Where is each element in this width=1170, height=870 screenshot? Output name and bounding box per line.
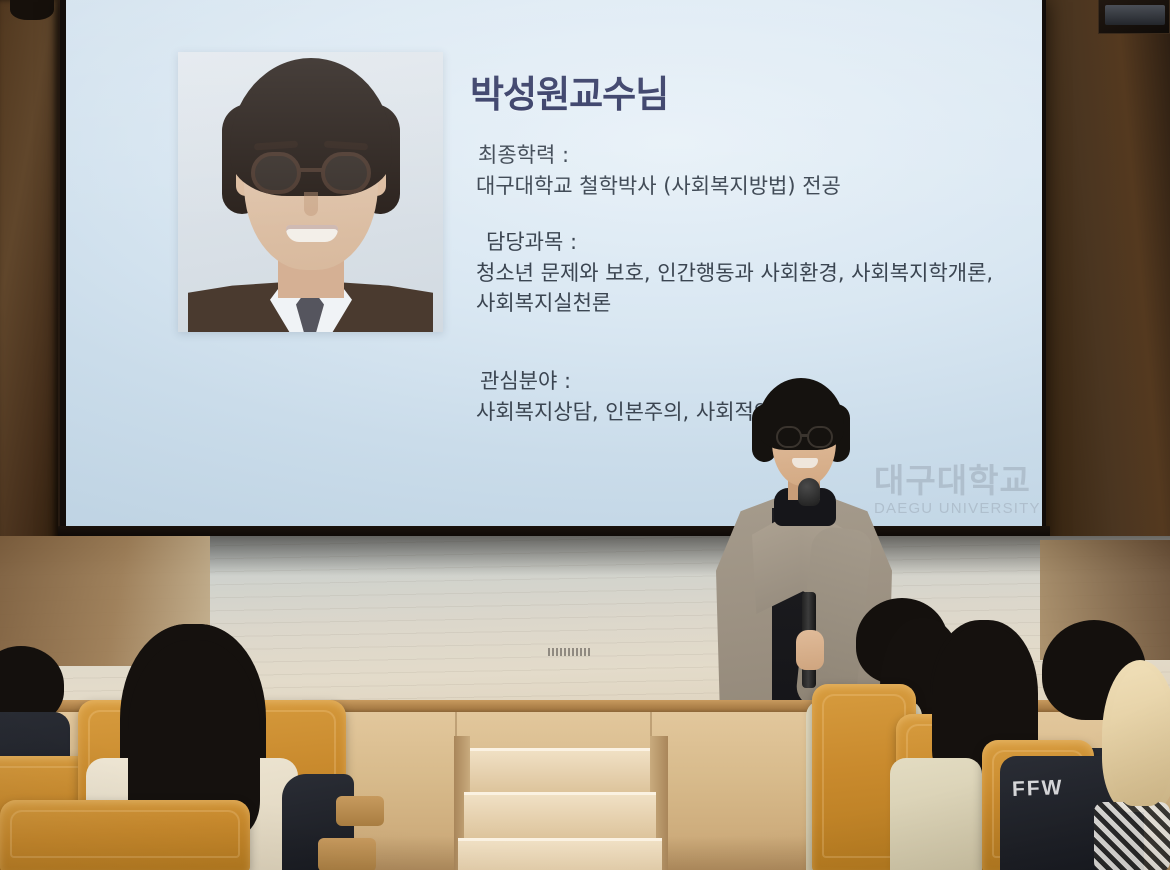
left-wall (0, 0, 68, 560)
portrait-nose (304, 192, 318, 216)
field-courses-value-line-1: 청소년 문제와 보호, 인간행동과 사회환경, 사회복지학개론, (476, 258, 993, 289)
wall-unit-right-icon (1098, 0, 1170, 34)
field-courses-label: 담당과목 : (486, 227, 993, 258)
stair-step-2 (464, 792, 656, 838)
speaker-glasses-left-icon (776, 426, 802, 448)
slide-title: 박성원교수님 (470, 64, 668, 118)
portrait-glasses-right-icon (321, 152, 371, 194)
audience-coat-right-2 (890, 758, 982, 870)
right-wall (1042, 0, 1170, 560)
field-courses: 담당과목 : 청소년 문제와 보호, 인간행동과 사회환경, 사회복지학개론, … (476, 227, 993, 319)
audience-seat-arm-center (336, 796, 384, 826)
field-education: 최종학력 : 대구대학교 철학박사 (사회복지방법) 전공 (476, 140, 841, 201)
speaker-hand (796, 630, 824, 670)
stair-step-1 (470, 748, 650, 792)
audience-scarf-patterned (1094, 802, 1170, 870)
speaker-smile (792, 458, 818, 468)
field-courses-value-line-2: 사회복지실천론 (476, 288, 993, 319)
speaker-glasses-bridge-icon (801, 434, 809, 437)
ceiling-fixture-top-left-icon (10, 0, 54, 20)
microphone-head-icon (798, 478, 820, 506)
field-education-value: 대구대학교 철학박사 (사회복지방법) 전공 (476, 171, 841, 202)
portrait-glasses-bridge-icon (300, 168, 323, 172)
audience-hair-blonde-front (1110, 666, 1170, 806)
audience-seat-front-left (0, 800, 250, 870)
professor-portrait-photo (178, 52, 443, 332)
portrait-smile (286, 225, 338, 242)
portrait-glasses-left-icon (251, 152, 301, 194)
left-wall-panel (0, 0, 58, 545)
stage-stairs (470, 716, 650, 870)
audience-seat-arm-front (318, 838, 376, 870)
stair-step-3 (458, 838, 662, 870)
speaker-glasses-right-icon (807, 426, 833, 448)
stage-floor-marking (548, 648, 592, 656)
lecture-hall-scene: 박성원교수님 최종학력 : 대구대학교 철학박사 (사회복지방법) 전공 담당과… (0, 0, 1170, 870)
field-education-label: 최종학력 : (478, 140, 841, 171)
